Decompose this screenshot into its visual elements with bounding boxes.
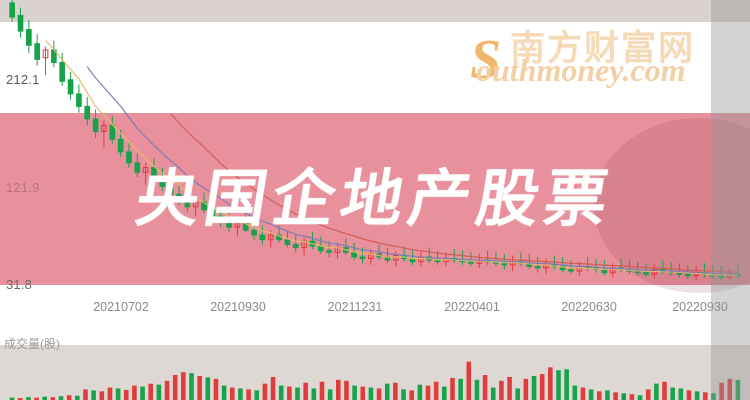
y-axis-label-mid: 121.9 — [6, 180, 40, 195]
x-axis: 20210702 20210930 20211231 20220401 2022… — [0, 300, 750, 320]
x-axis-tick-3: 20220401 — [444, 300, 500, 314]
volume-bar-chart — [0, 0, 750, 400]
x-axis-tick-1: 20210930 — [210, 300, 266, 314]
chart-screenshot: 212.1 121.9 31.8 20210702 20210930 20211… — [0, 0, 750, 400]
right-gray-strip — [711, 0, 750, 400]
y-axis-label-bottom: 31.8 — [6, 277, 32, 292]
x-axis-tick-2: 20211231 — [328, 300, 383, 314]
y-axis-label-top: 212.1 — [6, 72, 40, 87]
x-axis-tick-0: 20210702 — [93, 300, 149, 314]
x-axis-tick-4: 20220630 — [561, 300, 617, 314]
volume-caption: 成交量(股) — [4, 335, 60, 352]
